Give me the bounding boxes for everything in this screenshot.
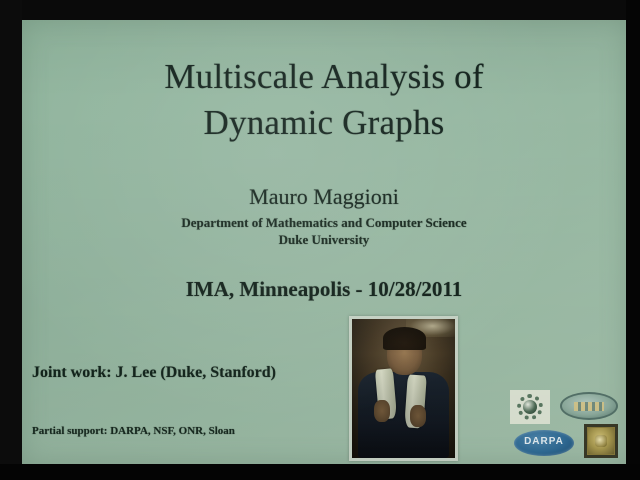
- joint-work-credit: Joint work: J. Lee (Duke, Stanford): [32, 363, 372, 383]
- darpa-logo: DARPA: [514, 430, 574, 456]
- onr-logo: [560, 392, 618, 420]
- author-university: Duke University: [22, 231, 626, 248]
- funding-support-note: Partial support: DARPA, NSF, ONR, Sloan: [32, 424, 362, 439]
- photo-hand-right: [410, 405, 426, 427]
- sloan-logo: [584, 424, 618, 458]
- venue-and-date: IMA, Minneapolis - 10/28/2011: [22, 276, 626, 302]
- nsf-logo: [510, 390, 550, 424]
- video-frame: Multiscale Analysis of Dynamic Graphs Ma…: [0, 0, 640, 480]
- photo-hand-left: [374, 400, 390, 422]
- slide-title-line-1: Multiscale Analysis of: [164, 57, 483, 96]
- letterbox-top: [0, 0, 640, 20]
- photo-ceiling-light: [406, 319, 455, 337]
- nsf-logo-globe-icon: [523, 400, 537, 414]
- photo-cup-left: [375, 368, 397, 419]
- presentation-slide: Multiscale Analysis of Dynamic Graphs Ma…: [22, 20, 626, 464]
- sponsor-logos: DARPA: [506, 390, 622, 464]
- author-department: Department of Mathematics and Computer S…: [22, 214, 626, 231]
- letterbox-bottom: [0, 464, 640, 480]
- speaker-photo-image: [352, 319, 455, 458]
- speaker-photo: [349, 316, 458, 461]
- onr-logo-emblem-icon: [574, 402, 604, 411]
- letterbox-left: [0, 0, 22, 480]
- darpa-logo-label: DARPA: [514, 436, 574, 447]
- slide-title-line-2: Dynamic Graphs: [22, 100, 626, 146]
- photo-person-torso: [358, 372, 449, 458]
- photo-cup-right: [404, 374, 426, 428]
- author-name: Mauro Maggioni: [22, 184, 626, 210]
- sloan-logo-plate-icon: [587, 427, 615, 455]
- letterbox-right: [626, 0, 640, 480]
- sloan-logo-mark-icon: [595, 435, 607, 447]
- photo-person-hair: [383, 327, 426, 349]
- slide-title: Multiscale Analysis of Dynamic Graphs: [22, 54, 626, 146]
- photo-person-head: [387, 333, 422, 375]
